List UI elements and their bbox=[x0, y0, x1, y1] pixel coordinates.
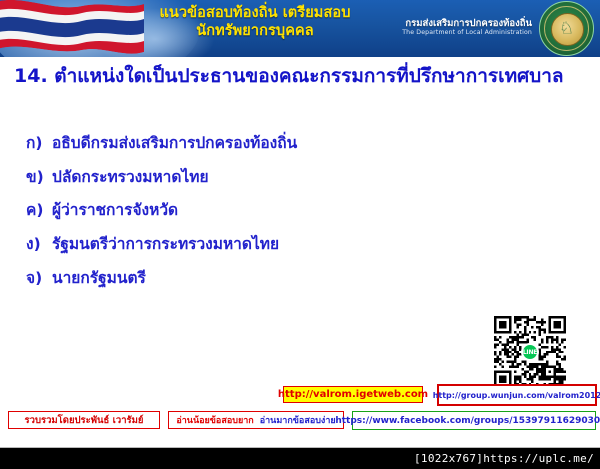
status-bar: [1022x767]https://uplc.me/ bbox=[0, 448, 600, 469]
choice-label: จ) bbox=[26, 268, 52, 288]
link-box-facebook-text: https://www.facebook.com/groups/15397911… bbox=[335, 416, 600, 426]
header-title-line-1: แนวข้อสอบท้องถิ่น เตรียมสอบ bbox=[130, 4, 380, 22]
slide-canvas: แนวข้อสอบท้องถิ่น เตรียมสอบ นักทรัพยากรบ… bbox=[0, 0, 600, 448]
choice-item-cho[interactable]: จ) นายกรัฐมนตรี bbox=[26, 268, 566, 288]
choice-item-ngo[interactable]: ง) รัฐมนตรีว่าการกระทรวงมหาดไทย bbox=[26, 234, 566, 254]
choice-text: รัฐมนตรีว่าการกระทรวงมหาดไทย bbox=[52, 234, 279, 254]
credit-box-text: รวบรวมโดยประพันธ์ เวารัมย์ bbox=[25, 413, 144, 428]
link-box-wunjun-text: http://group.wunjun.com/valrom2012 bbox=[433, 391, 600, 400]
choice-text: ผู้ว่าราชการจังหวัด bbox=[52, 200, 178, 220]
department-emblem-icon: ♘ bbox=[539, 1, 594, 56]
motto-text-red: อ่านน้อยข้อสอบยาก bbox=[176, 413, 253, 427]
choice-text: นายกรัฐมนตรี bbox=[52, 268, 146, 288]
choice-text: อธิบดีกรมส่งเสริมการปกครองท้องถิ่น bbox=[52, 133, 297, 153]
link-box-igetweb[interactable]: http://valrom.igetweb.com bbox=[283, 386, 423, 403]
header-title-block: แนวข้อสอบท้องถิ่น เตรียมสอบ นักทรัพยากรบ… bbox=[130, 4, 380, 40]
credit-box: รวบรวมโดยประพันธ์ เวารัมย์ bbox=[8, 411, 160, 429]
department-name-english: The Department of Local Administration bbox=[402, 29, 532, 36]
motto-text-blue: อ่านมากข้อสอบง่าย bbox=[260, 413, 336, 427]
department-name-thai: กรมส่งเสริมการปกครองท้องถิ่น bbox=[402, 18, 532, 29]
choice-label: ง) bbox=[26, 234, 52, 254]
link-box-facebook[interactable]: https://www.facebook.com/groups/15397911… bbox=[352, 411, 596, 430]
choice-item-kho[interactable]: ข) ปลัดกระทรวงมหาดไทย bbox=[26, 167, 566, 187]
link-box-wunjun[interactable]: http://group.wunjun.com/valrom2012 bbox=[437, 384, 597, 406]
choice-list: ก) อธิบดีกรมส่งเสริมการปกครองท้องถิ่น ข)… bbox=[26, 133, 566, 301]
screenshot-root: แนวข้อสอบท้องถิ่น เตรียมสอบ นักทรัพยากรบ… bbox=[0, 0, 600, 469]
link-box-igetweb-text: http://valrom.igetweb.com bbox=[278, 389, 428, 400]
status-bar-text: [1022x767]https://uplc.me/ bbox=[414, 452, 594, 465]
choice-item-ka[interactable]: ก) อธิบดีกรมส่งเสริมการปกครองท้องถิ่น bbox=[26, 133, 566, 153]
choice-label: ข) bbox=[26, 167, 52, 187]
question-text: 14. ตำแหน่งใดเป็นประธานของคณะกรรมการที่ป… bbox=[14, 62, 589, 91]
header-title-line-2: นักทรัพยากรบุคคล bbox=[130, 22, 380, 40]
choice-item-kho2[interactable]: ค) ผู้ว่าราชการจังหวัด bbox=[26, 200, 566, 220]
department-name-block: กรมส่งเสริมการปกครองท้องถิ่น The Departm… bbox=[402, 18, 532, 37]
choice-label: ค) bbox=[26, 200, 52, 220]
thai-flag-icon bbox=[0, 0, 144, 57]
line-logo-badge: LINE bbox=[521, 343, 539, 361]
choice-label: ก) bbox=[26, 133, 52, 153]
line-qr-code-icon[interactable]: LINE bbox=[494, 316, 566, 388]
choice-text: ปลัดกระทรวงมหาดไทย bbox=[52, 167, 209, 187]
emblem-horse-glyph: ♘ bbox=[559, 20, 574, 37]
header-banner: แนวข้อสอบท้องถิ่น เตรียมสอบ นักทรัพยากรบ… bbox=[0, 0, 600, 57]
motto-box: อ่านน้อยข้อสอบยาก อ่านมากข้อสอบง่าย bbox=[168, 411, 344, 429]
